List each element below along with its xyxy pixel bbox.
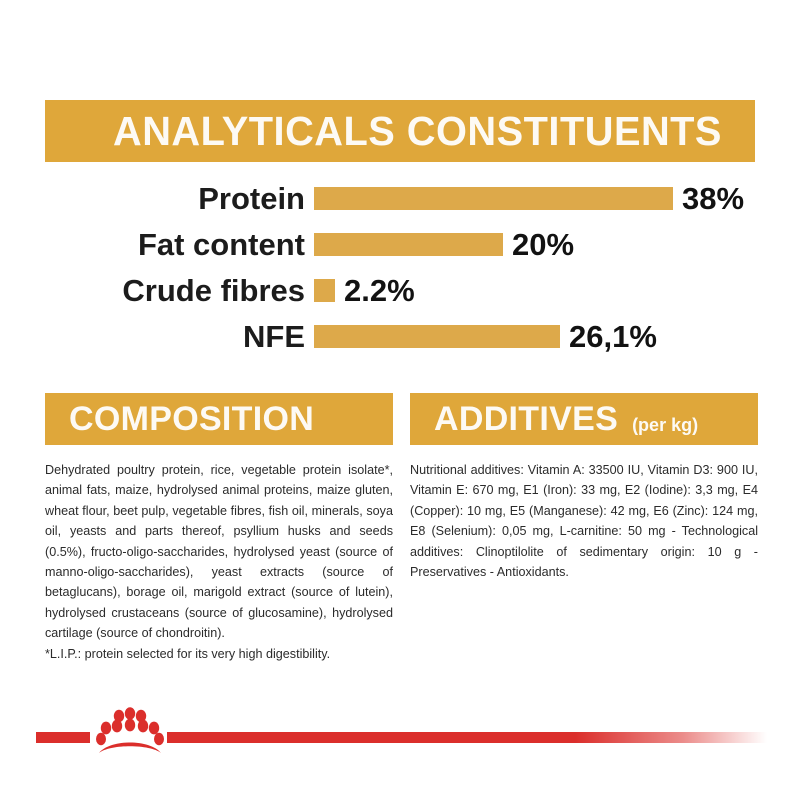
bar-fill bbox=[314, 279, 335, 302]
additives-title: ADDITIVES bbox=[434, 402, 618, 436]
composition-text: Dehydrated poultry protein, rice, vegeta… bbox=[45, 460, 393, 644]
bar-fill bbox=[314, 233, 503, 256]
bar-track: 38% bbox=[314, 176, 755, 220]
product-info-panel: ANALYTICALS CONSTITUENTS Protein 38% Fat… bbox=[0, 0, 800, 800]
chart-row: NFE 26,1% bbox=[45, 314, 755, 358]
analyticals-bar-chart: Protein 38% Fat content 20% Crude fibres… bbox=[45, 176, 755, 356]
composition-header: COMPOSITION bbox=[45, 393, 393, 445]
bar-value-label: 38% bbox=[682, 183, 744, 214]
additives-per-kg-label: (per kg) bbox=[632, 416, 698, 436]
brand-footer bbox=[0, 700, 800, 800]
bar-category-label: Crude fibres bbox=[45, 275, 305, 306]
bar-track: 26,1% bbox=[314, 314, 755, 358]
chart-row: Fat content 20% bbox=[45, 222, 755, 266]
footer-rule-right bbox=[167, 732, 767, 743]
composition-panel: COMPOSITION Dehydrated poultry protein, … bbox=[45, 393, 393, 664]
royal-canin-paw-icon bbox=[92, 706, 168, 764]
bar-fill bbox=[314, 187, 673, 210]
bar-category-label: Protein bbox=[45, 183, 305, 214]
bar-category-label: Fat content bbox=[45, 229, 305, 260]
bar-value-label: 26,1% bbox=[569, 321, 657, 352]
additives-panel: ADDITIVES (per kg) Nutritional additives… bbox=[410, 393, 758, 582]
composition-title: COMPOSITION bbox=[69, 402, 314, 436]
bar-value-label: 20% bbox=[512, 229, 574, 260]
additives-text: Nutritional additives: Vitamin A: 33500 … bbox=[410, 460, 758, 582]
bar-track: 2.2% bbox=[314, 268, 755, 312]
composition-body: Dehydrated poultry protein, rice, vegeta… bbox=[45, 445, 393, 664]
analyticals-constituents-header: ANALYTICALS CONSTITUENTS bbox=[45, 100, 755, 162]
additives-body: Nutritional additives: Vitamin A: 33500 … bbox=[410, 445, 758, 582]
bar-category-label: NFE bbox=[45, 321, 305, 352]
additives-header: ADDITIVES (per kg) bbox=[410, 393, 758, 445]
bar-fill bbox=[314, 325, 560, 348]
chart-row: Crude fibres 2.2% bbox=[45, 268, 755, 312]
chart-row: Protein 38% bbox=[45, 176, 755, 220]
composition-footnote: *L.I.P.: protein selected for its very h… bbox=[45, 644, 393, 664]
bar-track: 20% bbox=[314, 222, 755, 266]
footer-rule-left bbox=[36, 732, 90, 743]
bar-value-label: 2.2% bbox=[344, 275, 415, 306]
analyticals-constituents-title: ANALYTICALS CONSTITUENTS bbox=[113, 111, 722, 152]
